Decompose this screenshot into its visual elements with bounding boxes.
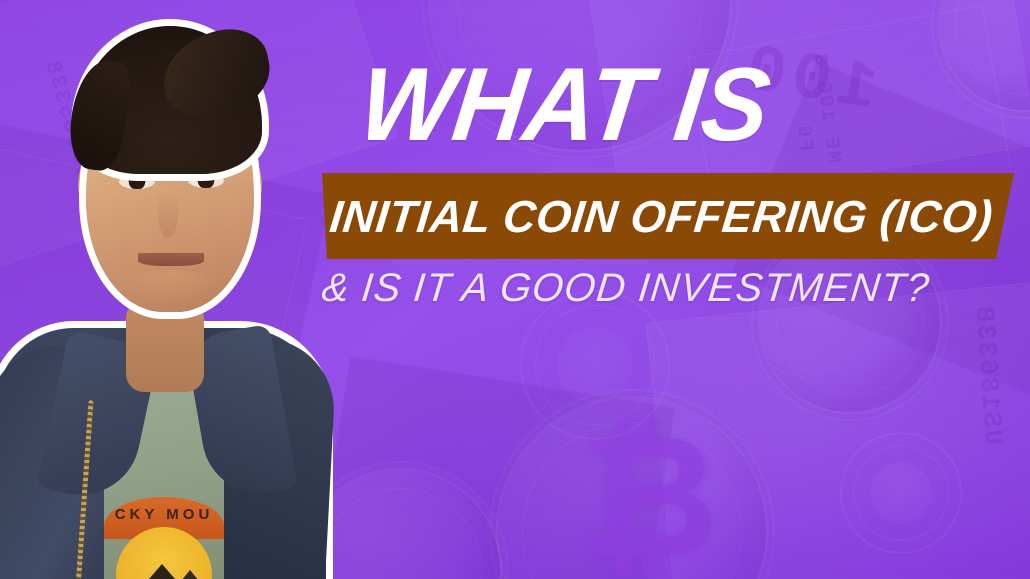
presenter-cutout: CKY MOU bbox=[0, 8, 346, 579]
thumbnail-canvas: 100 FJ05185338 ME 10G 8 F6 US18633B ₿ WH… bbox=[0, 0, 1030, 579]
chin-highlight bbox=[122, 270, 218, 304]
eye-right bbox=[188, 173, 224, 188]
neck bbox=[126, 300, 204, 392]
subline-question: & IS IT A GOOD INVESTMENT? bbox=[319, 264, 932, 312]
headline-what-is: WHAT IS bbox=[355, 58, 774, 154]
banner-title-text: INITIAL COIN OFFERING (ICO) bbox=[327, 188, 1030, 248]
tshirt-mountain-graphic-2 bbox=[172, 570, 208, 579]
nose bbox=[158, 190, 178, 238]
mouth bbox=[138, 253, 204, 266]
eye-left bbox=[119, 174, 155, 189]
tshirt-graphic-text: CKY MOU bbox=[104, 506, 224, 523]
